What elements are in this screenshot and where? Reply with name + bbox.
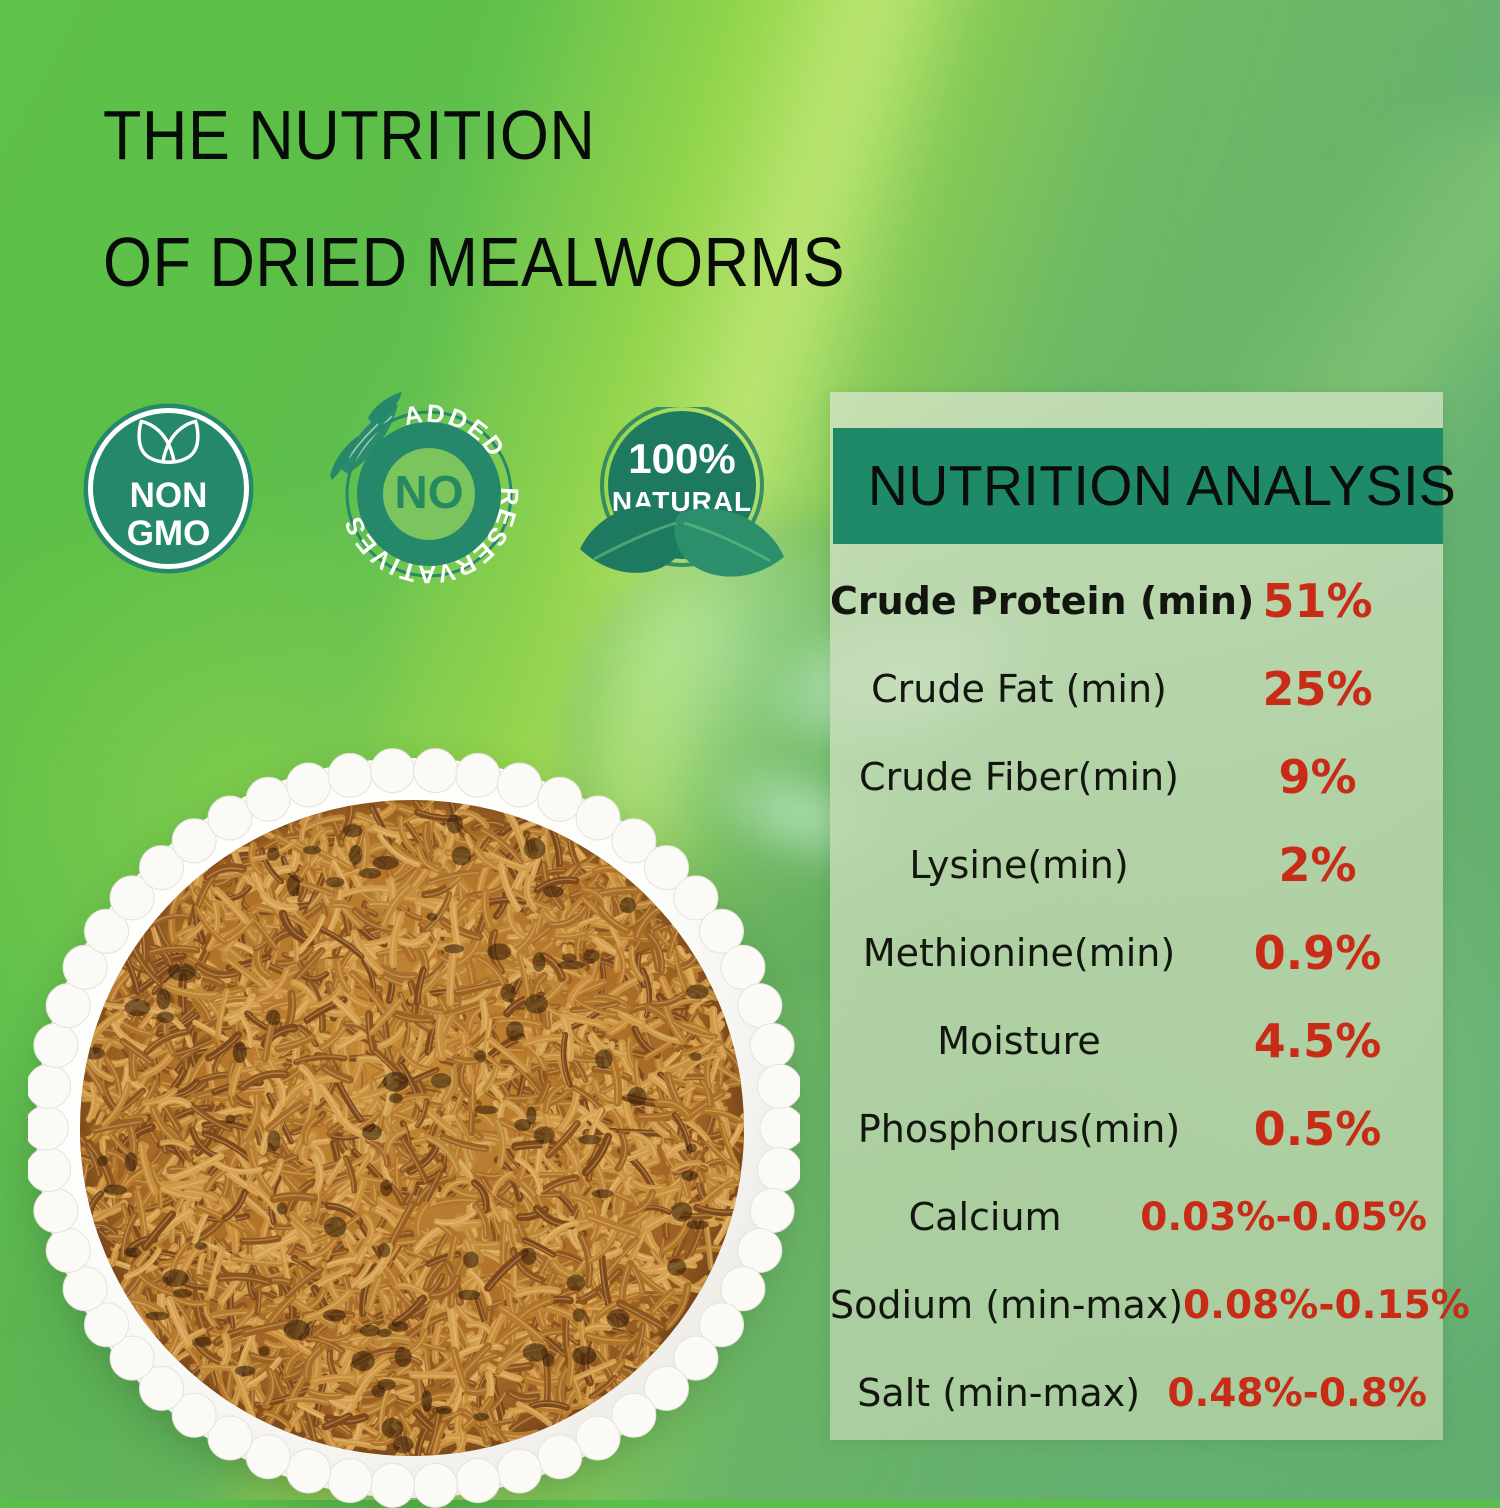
- nutrition-row: Methionine(min)0.9%: [830, 909, 1443, 997]
- nutrition-row-value: 0.5%: [1208, 1102, 1443, 1156]
- nutrition-rows: Crude Protein (min)51%Crude Fat (min)25%…: [830, 557, 1443, 1437]
- nutrition-row-value: 0.08%-0.15%: [1183, 1283, 1486, 1328]
- nutrition-row-value: 9%: [1208, 750, 1443, 804]
- nutrition-row-value: 51%: [1208, 574, 1443, 628]
- badge-non-gmo: NON GMO: [81, 401, 256, 576]
- nutrition-row-value: 0.9%: [1208, 926, 1443, 980]
- nutrition-row-label: Sodium (min-max): [830, 1283, 1183, 1327]
- nutrition-row: Moisture4.5%: [830, 997, 1443, 1085]
- mealworm-pile: [80, 800, 744, 1456]
- nutrition-row-value: 2%: [1208, 838, 1443, 892]
- nutrition-row: Crude Fat (min)25%: [830, 645, 1443, 733]
- nutrition-row-label: Crude Fat (min): [830, 667, 1208, 711]
- nutrition-row-label: Crude Fiber(min): [830, 755, 1208, 799]
- nutrition-row-label: Lysine(min): [830, 843, 1208, 887]
- badge-non-gmo-line-1: NON: [130, 476, 208, 515]
- nutrition-row-value: 0.48%-0.8%: [1167, 1371, 1443, 1416]
- page-title-line-1: THE NUTRITION: [103, 95, 595, 175]
- nutrition-row: Crude Fiber(min)9%: [830, 733, 1443, 821]
- badge-natural-line-1: 100%: [628, 435, 735, 482]
- page-title-line-2: OF DRIED MEALWORMS: [103, 222, 845, 302]
- nutrition-row: Crude Protein (min)51%: [830, 557, 1443, 645]
- nutrition-row: Sodium (min-max)0.08%-0.15%: [830, 1261, 1443, 1349]
- nutrition-row-label: Phosphorus(min): [830, 1107, 1208, 1151]
- badge-non-gmo-line-2: GMO: [127, 514, 211, 553]
- nutrition-row-value: 4.5%: [1208, 1014, 1443, 1068]
- nutrition-analysis-header: NUTRITION ANALYSIS: [833, 428, 1443, 544]
- nutrition-row-value: 0.03%-0.05%: [1140, 1195, 1443, 1240]
- nutrition-row-label: Moisture: [830, 1019, 1208, 1063]
- nutrition-analysis-panel: NUTRITION ANALYSIS Crude Protein (min)51…: [830, 392, 1443, 1440]
- nutrition-row-label: Methionine(min): [830, 931, 1208, 975]
- nutrition-row: Salt (min-max)0.48%-0.8%: [830, 1349, 1443, 1437]
- nutrition-row: Phosphorus(min)0.5%: [830, 1085, 1443, 1173]
- badge-no-added-preservatives: ADDED PRESERVATIVES NO: [322, 390, 537, 588]
- nutrition-row: Calcium0.03%-0.05%: [830, 1173, 1443, 1261]
- nutrition-row: Lysine(min)2%: [830, 821, 1443, 909]
- panel-title: NUTRITION ANALYSIS: [833, 453, 1456, 519]
- product-image-bowl: [28, 748, 800, 1508]
- nutrition-row-label: Salt (min-max): [830, 1371, 1167, 1415]
- nutrition-row-label: Calcium: [830, 1195, 1140, 1239]
- nutrition-row-value: 25%: [1208, 662, 1443, 716]
- nutrition-row-label: Crude Protein (min): [830, 579, 1208, 623]
- badge-100-natural: 100% NATURAL: [572, 407, 792, 589]
- badge-preservatives-center: NO: [395, 466, 464, 518]
